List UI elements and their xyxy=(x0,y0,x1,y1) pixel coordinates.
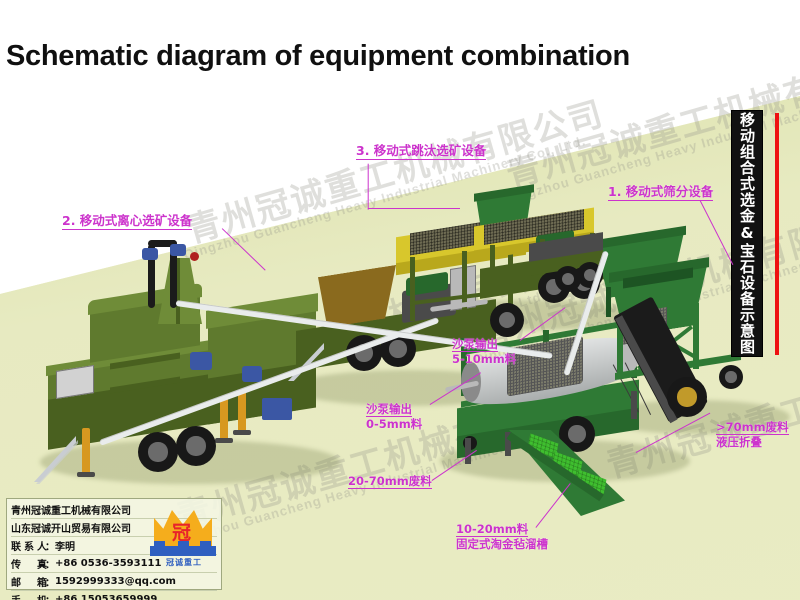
jack-foot-1 xyxy=(77,472,95,477)
hydraulic-jack-1 xyxy=(82,428,90,474)
machine-rear-trailer[interactable] xyxy=(525,228,645,308)
mobile-value: +86 15053659999 xyxy=(55,594,157,600)
front-wheel-2 xyxy=(719,365,743,389)
label-waste-over-70-line2: 液压折叠 xyxy=(716,435,789,449)
motor-blue-2 xyxy=(170,244,186,256)
callout-equipment-1: 1. 移动式筛分设备 xyxy=(608,181,713,201)
motor-blue-4 xyxy=(242,366,262,382)
jack-foot-3 xyxy=(233,430,251,435)
email-value: 1592999333@qq.com xyxy=(55,576,176,587)
callout-equipment-2-text: 2. 移动式离心选矿设备 xyxy=(62,210,192,230)
mobile-label: 手 机 xyxy=(11,592,45,600)
page-title: Schematic diagram of equipment combinati… xyxy=(6,40,630,73)
label-sluice-10-20-line2: 固定式淘金毡溜槽 xyxy=(456,537,548,551)
vertical-banner: 移动组合式选金&宝石设备示意图 xyxy=(731,110,763,357)
mobile-separator: ： xyxy=(45,592,55,600)
company-logo: 冠 冠诚重工 xyxy=(148,508,218,570)
label-sand-pump-0-5-line2: 0-5mm料 xyxy=(366,417,422,431)
label-sand-pump-5-10: 沙泵输出 5-10mm料 xyxy=(452,337,516,366)
callout-equipment-3: 3. 移动式跳汰选矿设备 xyxy=(356,140,486,160)
label-waste-over-70-line1: >70mm废料 xyxy=(716,420,789,435)
front-support-leg xyxy=(631,391,637,419)
trommel-support-leg-1 xyxy=(465,438,471,464)
label-sand-pump-0-5-line1: 沙泵输出 xyxy=(366,402,412,417)
callout-equipment-3-text: 3. 移动式跳汰选矿设备 xyxy=(356,140,486,160)
pump-blue xyxy=(262,398,292,420)
email-label: 邮 箱 xyxy=(11,574,45,589)
valve-red xyxy=(190,252,199,261)
label-sand-pump-5-10-line2: 5-10mm料 xyxy=(452,352,516,366)
leader-line-3 xyxy=(367,164,368,210)
fax-value: +86 0536-3593111 xyxy=(55,558,161,569)
callout-equipment-1-text: 1. 移动式筛分设备 xyxy=(608,181,713,201)
wheel-1 xyxy=(138,432,178,472)
label-sluice-10-20: 10-20mm料 固定式淘金毡溜槽 xyxy=(456,522,548,551)
label-waste-over-70: >70mm废料 液压折叠 xyxy=(716,420,789,449)
red-accent-line xyxy=(775,113,779,355)
logo-caption: 冠诚重工 xyxy=(154,557,214,568)
contact-value: 李明 xyxy=(55,538,75,553)
leader-line-3b xyxy=(368,208,460,209)
label-waste-20-70-line1: 20-70mm废料 xyxy=(348,474,432,489)
company-name-1: 青州冠诚重工机械有限公司 xyxy=(11,502,131,517)
motor-blue-3 xyxy=(190,352,212,370)
company-name-2: 山东冠诚开山贸易有限公司 xyxy=(11,520,131,535)
wheel-2 xyxy=(176,426,216,466)
hydraulic-jack-2 xyxy=(220,396,228,440)
label-sand-pump-0-5: 沙泵输出 0-5mm料 xyxy=(366,402,422,431)
jig-leg-1 xyxy=(410,257,415,321)
label-sand-pump-5-10-line1: 沙泵输出 xyxy=(452,337,498,352)
mobile-row: 手 机 ： +86 15053659999 xyxy=(11,591,217,600)
logo-base-bar-2 xyxy=(150,553,216,556)
fax-label: 传 真 xyxy=(11,556,45,571)
callout-equipment-2: 2. 移动式离心选矿设备 xyxy=(62,210,192,230)
schematic-canvas: 青州冠诚重工机械有限公司 Qingzhou Guancheng Heavy In… xyxy=(0,0,800,600)
fax-separator: ： xyxy=(45,556,55,571)
front-wheel-1 xyxy=(667,377,707,417)
label-sluice-10-20-line1: 10-20mm料 xyxy=(456,522,528,537)
email-row: 邮 箱 ： 1592999333@qq.com xyxy=(11,573,217,591)
machine-centrifugal-concentrator[interactable] xyxy=(30,250,330,480)
jack-foot-2 xyxy=(215,438,233,443)
logo-base-bar xyxy=(150,546,216,553)
contact-label: 联系人 xyxy=(11,538,45,553)
hydraulic-jack-3 xyxy=(238,390,246,432)
email-separator: ： xyxy=(45,574,55,589)
motor-blue-1 xyxy=(142,248,158,260)
contact-separator: ： xyxy=(45,538,55,553)
feeder-tower xyxy=(158,258,202,324)
label-waste-20-70: 20-70mm废料 xyxy=(348,474,432,489)
screen-leg-1 xyxy=(490,245,495,289)
